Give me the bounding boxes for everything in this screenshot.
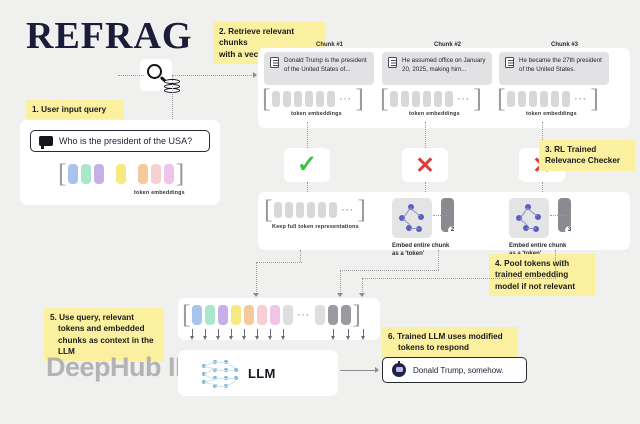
token-chip bbox=[94, 164, 104, 184]
chunk-1-title: Chunk #1 bbox=[316, 42, 343, 48]
chunk-1-token-embeddings: [ ··· ] bbox=[262, 88, 364, 110]
arrow-context-1 bbox=[253, 293, 259, 297]
connector-result2-left bbox=[340, 270, 439, 271]
connector-context-left bbox=[256, 262, 257, 296]
arrow-context-3 bbox=[359, 293, 365, 297]
connector-graph-to-token-3 bbox=[550, 215, 564, 216]
kept-token-representations: [ ··· ] bbox=[264, 199, 366, 221]
search-database-icon bbox=[140, 59, 172, 91]
pooled-token-number: 3 bbox=[565, 226, 574, 235]
token-chip bbox=[116, 164, 126, 184]
bracket-open: [ bbox=[264, 199, 273, 221]
token-chip bbox=[218, 305, 228, 325]
answer-text: Donald Trump, somehow. bbox=[413, 366, 504, 375]
callout-step-6: 6. Trained LLM uses modified tokens to r… bbox=[382, 327, 518, 358]
chunk-3-card: He became the 27th president of the Unit… bbox=[499, 52, 609, 85]
token-chip bbox=[192, 305, 202, 325]
chunk-1-card: Donald Trump is the president of the Uni… bbox=[264, 52, 374, 85]
token-chip bbox=[205, 305, 215, 325]
token-chip bbox=[283, 305, 293, 325]
verdict-chunk-1: ✓ bbox=[284, 148, 330, 182]
llm-label: LLM bbox=[248, 366, 276, 381]
token-chip bbox=[296, 202, 304, 218]
chunk-2-title: Chunk #2 bbox=[434, 42, 461, 48]
token-chip bbox=[540, 91, 548, 107]
bracket-open: [ bbox=[58, 163, 67, 185]
callout-step-3-line1: 3. RL Trained bbox=[545, 144, 629, 155]
bracket-close: ] bbox=[473, 88, 482, 110]
token-chip bbox=[81, 164, 91, 184]
chunk-3-token-embeddings: [ ··· ] bbox=[497, 88, 599, 110]
connector-chunk2-verdict bbox=[425, 122, 426, 150]
token-chip bbox=[272, 91, 280, 107]
connector-result1-left bbox=[256, 262, 302, 263]
token-chip bbox=[68, 164, 78, 184]
user-avatar-icon bbox=[39, 136, 53, 146]
callout-step-4: 4. Pool tokens with trained embedding mo… bbox=[489, 254, 595, 296]
callout-step-3-line2: Relevance Checker bbox=[545, 155, 629, 166]
token-chip bbox=[445, 91, 453, 107]
chunk-2-token-embeddings: [ ··· ] bbox=[380, 88, 482, 110]
diagram-canvas: REFRAG 2. Retrieve relevant chunks with … bbox=[0, 0, 640, 424]
token-chip bbox=[244, 305, 254, 325]
page-title: REFRAG bbox=[26, 14, 192, 58]
chunk-1-text: Donald Trump is the president of the Uni… bbox=[284, 57, 368, 80]
chunk-3-embeddings-label: token embeddings bbox=[526, 111, 577, 117]
answer-output: Donald Trump, somehow. bbox=[382, 357, 527, 383]
token-chip bbox=[518, 91, 526, 107]
token-chip bbox=[329, 202, 337, 218]
token-chip-pooled bbox=[341, 305, 351, 325]
bracket-close: ] bbox=[590, 88, 599, 110]
ellipsis: ··· bbox=[458, 94, 471, 104]
token-chip bbox=[507, 91, 515, 107]
token-chip bbox=[270, 305, 280, 325]
token-chip bbox=[274, 202, 282, 218]
connector-result2-down bbox=[438, 250, 439, 270]
token-chip bbox=[164, 164, 174, 184]
bracket-close: ] bbox=[355, 88, 364, 110]
ellipsis: ··· bbox=[340, 94, 353, 104]
chunk-3-text: He became the 27th president of the Unit… bbox=[519, 57, 603, 80]
arrow-to-chunks bbox=[253, 72, 257, 78]
result-2-label: Embed entire chunk as a 'token' bbox=[392, 242, 450, 259]
document-icon bbox=[388, 57, 397, 68]
chunk-2-embeddings-label: token embeddings bbox=[409, 111, 460, 117]
arrow-context-2 bbox=[337, 293, 343, 297]
callout-step-4-line1: 4. Pool tokens with bbox=[495, 258, 589, 269]
query-token-embeddings: [ ] bbox=[58, 163, 184, 185]
bracket-open: [ bbox=[380, 88, 389, 110]
token-chip bbox=[138, 164, 148, 184]
chunk-2-text: He assumed office on January 20, 2025, m… bbox=[402, 57, 486, 80]
token-chip bbox=[412, 91, 420, 107]
token-chip bbox=[529, 91, 537, 107]
token-chip bbox=[551, 91, 559, 107]
callout-step-5-line2: tokens and embedded bbox=[50, 323, 158, 334]
token-chip bbox=[257, 305, 267, 325]
embed-chunk-2-block: 2 Embed entire chunk as a 'token' bbox=[392, 198, 454, 259]
ellipsis: ··· bbox=[342, 205, 355, 215]
callout-step-1-label: 1. User input query bbox=[32, 105, 106, 114]
connector-graph-to-token-2 bbox=[433, 215, 447, 216]
bracket-close: ] bbox=[176, 163, 185, 185]
context-token-row: [ ··· ] bbox=[182, 304, 361, 326]
callout-step-6-line1: 6. Trained LLM uses modified bbox=[388, 331, 512, 342]
connector-result1-down bbox=[300, 250, 301, 262]
callout-step-5-line1: 5. Use query, relevant bbox=[50, 312, 158, 323]
bracket-open: [ bbox=[497, 88, 506, 110]
connector-llm-to-answer bbox=[340, 370, 376, 371]
connector-chunk1-verdict bbox=[307, 122, 308, 150]
chunk-2-card: He assumed office on January 20, 2025, m… bbox=[382, 52, 492, 85]
token-chip bbox=[318, 202, 326, 218]
token-chip bbox=[285, 202, 293, 218]
result-1-label: Keep full token representations bbox=[272, 224, 359, 230]
arrow-to-answer bbox=[375, 367, 379, 373]
check-icon: ✓ bbox=[297, 153, 317, 177]
token-chip bbox=[316, 91, 324, 107]
query-text: Who is the president of the USA? bbox=[59, 136, 192, 146]
token-chip bbox=[151, 164, 161, 184]
token-chip bbox=[390, 91, 398, 107]
callout-step-1: 1. User input query bbox=[26, 100, 124, 119]
query-embeddings-label: token embeddings bbox=[134, 190, 185, 196]
document-icon bbox=[505, 57, 514, 68]
token-chip bbox=[327, 91, 335, 107]
verdict-chunk-2: ✕ bbox=[402, 148, 448, 182]
chunk-3-title: Chunk #3 bbox=[551, 42, 578, 48]
llm-block: LLM bbox=[178, 350, 338, 396]
token-chip bbox=[434, 91, 442, 107]
token-chip bbox=[294, 91, 302, 107]
connector-search-left bbox=[118, 75, 144, 76]
ellipsis: ··· bbox=[575, 94, 588, 104]
token-chip bbox=[401, 91, 409, 107]
token-chip-pooled bbox=[328, 305, 338, 325]
connector-result3-left bbox=[362, 278, 556, 279]
token-chip bbox=[305, 91, 313, 107]
chunk-1-embeddings-label: token embeddings bbox=[291, 111, 342, 117]
token-chip bbox=[423, 91, 431, 107]
query-input[interactable]: Who is the president of the USA? bbox=[30, 130, 210, 152]
callout-step-5-line3: chunks as context in the bbox=[50, 335, 158, 346]
callout-step-2-line1: 2. Retrieve relevant chunks bbox=[219, 26, 319, 49]
robot-icon bbox=[392, 363, 406, 377]
graph-embedding-icon bbox=[509, 198, 549, 238]
connector-search-to-chunks bbox=[172, 75, 254, 76]
document-icon bbox=[270, 57, 279, 68]
graph-embedding-icon bbox=[392, 198, 432, 238]
neural-network-icon bbox=[200, 356, 240, 390]
token-chip bbox=[315, 305, 325, 325]
token-chip bbox=[283, 91, 291, 107]
pooled-token-number: 2 bbox=[448, 226, 457, 235]
token-chip bbox=[307, 202, 315, 218]
callout-step-3: 3. RL Trained Relevance Checker bbox=[539, 140, 635, 171]
connector-result3-down bbox=[555, 250, 556, 278]
bracket-open: [ bbox=[182, 304, 191, 326]
token-chip bbox=[231, 305, 241, 325]
bracket-open: [ bbox=[262, 88, 271, 110]
callout-step-4-line3: model if not relevant bbox=[495, 281, 589, 292]
ellipsis: ··· bbox=[298, 310, 311, 320]
token-chip bbox=[562, 91, 570, 107]
cross-icon: ✕ bbox=[415, 154, 434, 177]
bracket-close: ] bbox=[352, 304, 361, 326]
callout-step-6-line2: tokens to respond bbox=[388, 342, 512, 353]
embed-chunk-3-block: 3 Embed entire chunk as a 'token' bbox=[509, 198, 571, 259]
bracket-close: ] bbox=[357, 199, 366, 221]
